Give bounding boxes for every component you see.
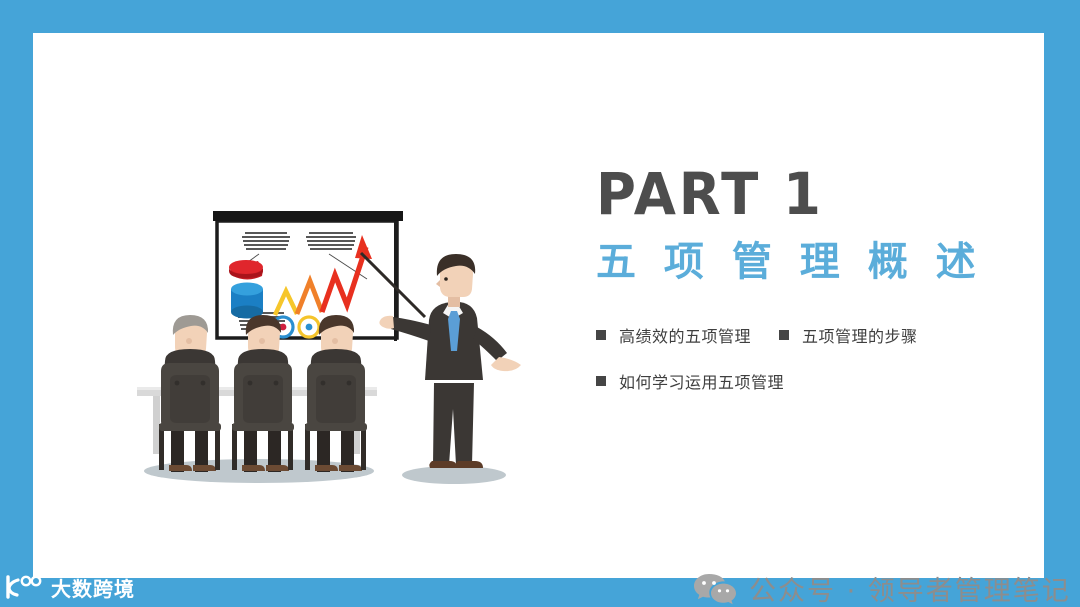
list-item[interactable]: 高绩效的五项管理 [596,323,751,347]
page-title: 五 项 管 理 概 述 [596,239,1036,285]
list-item-label: 如何学习运用五项管理 [619,369,784,393]
illustration-business-presentation [129,175,559,505]
watermark-label: 公众号 · 领导者管理笔记 [749,569,1071,607]
k100-logo-icon [4,574,44,600]
bullet-list: 高绩效的五项管理 五项管理的步骤 如何学习运用五项管理 [596,323,1036,393]
list-item-label: 高绩效的五项管理 [619,323,751,347]
square-bullet-icon [596,330,606,340]
blue-cylinder [231,283,263,319]
bullet-row: 如何学习运用五项管理 [596,369,1036,393]
part-label: PART 1 [596,165,1010,223]
bullet-row: 高绩效的五项管理 五项管理的步骤 [596,323,1036,347]
list-item[interactable]: 如何学习运用五项管理 [596,369,784,393]
audience-person-1 [159,315,221,472]
list-item-label: 五项管理的步骤 [802,323,918,347]
slide-root: PART 1 五 项 管 理 概 述 高绩效的五项管理 五项管理的步骤 [0,0,1080,607]
brand-label: 大数跨境 [51,573,135,602]
list-item[interactable]: 五项管理的步骤 [779,323,918,347]
square-bullet-icon [779,330,789,340]
title-text-block: PART 1 五 项 管 理 概 述 高绩效的五项管理 五项管理的步骤 [596,165,1036,415]
brand-logo: 大数跨境 [4,570,135,604]
wechat-watermark: 公众号 · 领导者管理笔记 [693,569,1071,607]
slide-canvas: PART 1 五 项 管 理 概 述 高绩效的五项管理 五项管理的步骤 [33,33,1044,578]
square-bullet-icon [596,376,606,386]
projection-screen [213,211,403,341]
presenter-figure [379,254,521,468]
wechat-icon [693,572,737,606]
